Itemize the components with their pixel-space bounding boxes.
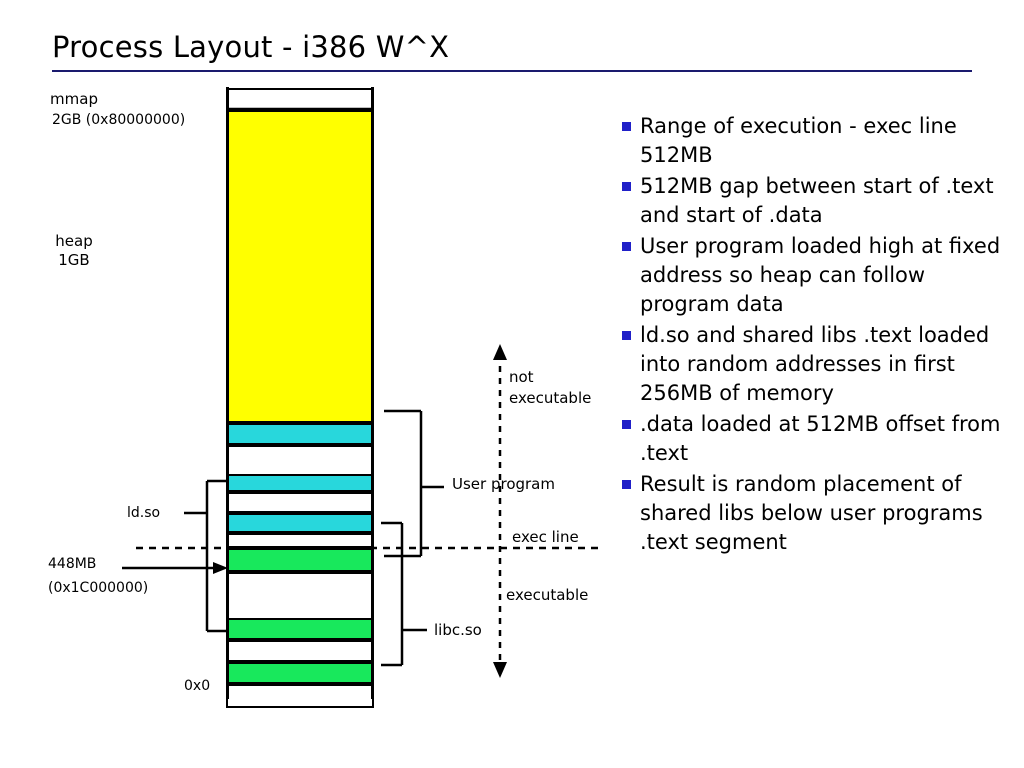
memory-block-gap-5 xyxy=(226,640,374,662)
not-executable-label-line2: executable xyxy=(509,388,591,409)
memory-block-shared-lib-3 xyxy=(226,513,374,533)
libcso-bracket-label: libc.so xyxy=(434,621,482,639)
memory-block-mmap-header xyxy=(226,88,374,110)
heap-label-name: heap xyxy=(0,232,148,251)
bullet-text: .data loaded at 512MB offset from .text xyxy=(640,410,1004,468)
bullet-item: 512MB gap between start of .text and sta… xyxy=(622,172,1004,230)
memory-block-gap-3 xyxy=(226,533,374,548)
heap-label-size: 1GB xyxy=(0,251,148,270)
address-label-top: 2GB (0x80000000) xyxy=(52,112,185,128)
executable-label: executable xyxy=(506,586,588,604)
bullet-square-icon xyxy=(622,182,631,191)
memory-block-program-text-3 xyxy=(226,662,374,684)
exec-line-label: exec line xyxy=(512,528,579,546)
bullet-square-icon xyxy=(622,242,631,251)
user-program-bracket-label: User program xyxy=(452,475,555,493)
libcso-bracket xyxy=(381,523,427,665)
memory-block-heap xyxy=(226,110,374,423)
bullet-item: User program loaded high at fixed addres… xyxy=(622,232,1004,319)
memory-block-shared-lib-2 xyxy=(226,474,374,492)
mmap-label: mmap xyxy=(0,90,148,108)
exec-address-label: 448MB xyxy=(48,556,96,572)
memory-block-program-text-2 xyxy=(226,618,374,640)
user-program-bracket xyxy=(384,411,444,556)
memory-block-gap-2 xyxy=(226,492,374,513)
memory-block-program-text-1 xyxy=(226,548,374,572)
bullet-list: Range of execution - exec line 512MB512M… xyxy=(622,112,1004,559)
memory-block-gap-6 xyxy=(226,684,374,708)
exec-address-hex-label: (0x1C000000) xyxy=(48,580,148,596)
bullet-square-icon xyxy=(622,420,631,429)
memory-block-shared-lib-1 xyxy=(226,423,374,445)
bullet-item: ld.so and shared libs .text loaded into … xyxy=(622,321,1004,408)
bullet-text: 512MB gap between start of .text and sta… xyxy=(640,172,1004,230)
exec-range-axis-arrow-down xyxy=(493,662,507,678)
page-title: Process Layout - i386 W^X xyxy=(52,30,449,64)
address-label-bottom: 0x0 xyxy=(184,678,210,694)
bullet-text: User program loaded high at fixed addres… xyxy=(640,232,1004,319)
bullet-text: Result is random placement of shared lib… xyxy=(640,470,1004,557)
bullet-item: .data loaded at 512MB offset from .text xyxy=(622,410,1004,468)
bullet-square-icon xyxy=(622,122,631,131)
bullet-text: ld.so and shared libs .text loaded into … xyxy=(640,321,1004,408)
not-executable-label: not executable xyxy=(509,367,591,409)
bullet-square-icon xyxy=(622,480,631,489)
memory-layout-diagram xyxy=(226,87,374,699)
bullet-item: Range of execution - exec line 512MB xyxy=(622,112,1004,170)
bullet-square-icon xyxy=(622,331,631,340)
heap-label: heap 1GB xyxy=(0,232,148,270)
bullet-item: Result is random placement of shared lib… xyxy=(622,470,1004,557)
ldso-bracket-label: ld.so xyxy=(127,505,160,521)
exec-range-axis-arrow-up xyxy=(493,344,507,360)
ldso-bracket xyxy=(184,481,226,631)
bullet-text: Range of execution - exec line 512MB xyxy=(640,112,1004,170)
title-divider xyxy=(52,70,972,72)
not-executable-label-line1: not xyxy=(509,367,591,388)
